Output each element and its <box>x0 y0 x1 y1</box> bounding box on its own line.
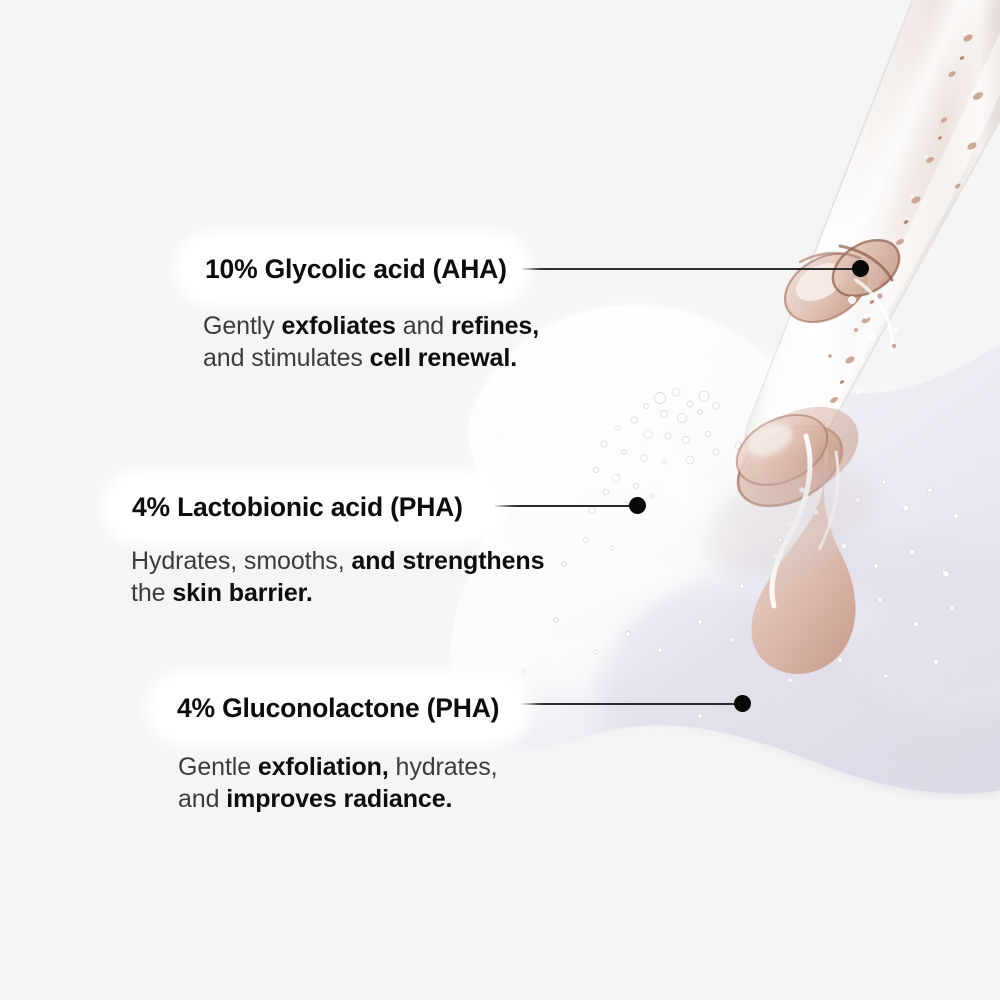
rose-gold-serum-drip <box>690 229 910 674</box>
description-line: and improves radiance. <box>178 784 497 816</box>
leader-line-gluconolactone <box>522 703 742 705</box>
pill-gluconolactone[interactable]: 4% Gluconolactone (PHA) <box>155 679 522 737</box>
description-glycolic-acid: Gently exfoliates and refines, and stimu… <box>203 311 539 374</box>
pill-glycolic-acid[interactable]: 10% Glycolic acid (AHA) <box>183 240 522 298</box>
leader-dot-glycolic-acid <box>852 260 869 277</box>
description-line: and stimulates cell renewal. <box>203 343 539 375</box>
serum-bubbles <box>522 388 959 718</box>
description-line: Hydrates, smooths, and strengthens <box>131 546 544 578</box>
description-lactobionic-acid: Hydrates, smooths, and strengthens the s… <box>131 546 544 609</box>
glass-dropper-pipette <box>692 0 1000 544</box>
description-line: the skin barrier. <box>131 578 544 610</box>
pill-label-glycolic-acid: 10% Glycolic acid (AHA) <box>205 256 507 283</box>
description-gluconolactone: Gentle exfoliation, hydrates, and improv… <box>178 752 497 815</box>
leader-dot-lactobionic-acid <box>629 497 646 514</box>
leader-dot-gluconolactone <box>734 695 751 712</box>
pill-label-lactobionic-acid: 4% Lactobionic acid (PHA) <box>132 494 463 521</box>
leader-line-lactobionic-acid <box>495 505 637 507</box>
description-line: Gentle exfoliation, hydrates, <box>178 752 497 784</box>
pill-label-gluconolactone: 4% Gluconolactone (PHA) <box>177 695 499 722</box>
pill-lactobionic-acid[interactable]: 4% Lactobionic acid (PHA) <box>110 478 495 536</box>
description-line: Gently exfoliates and refines, <box>203 311 539 343</box>
infographic-canvas: 10% Glycolic acid (AHA) Gently exfoliate… <box>0 0 1000 1000</box>
leader-line-glycolic-acid <box>522 268 860 270</box>
